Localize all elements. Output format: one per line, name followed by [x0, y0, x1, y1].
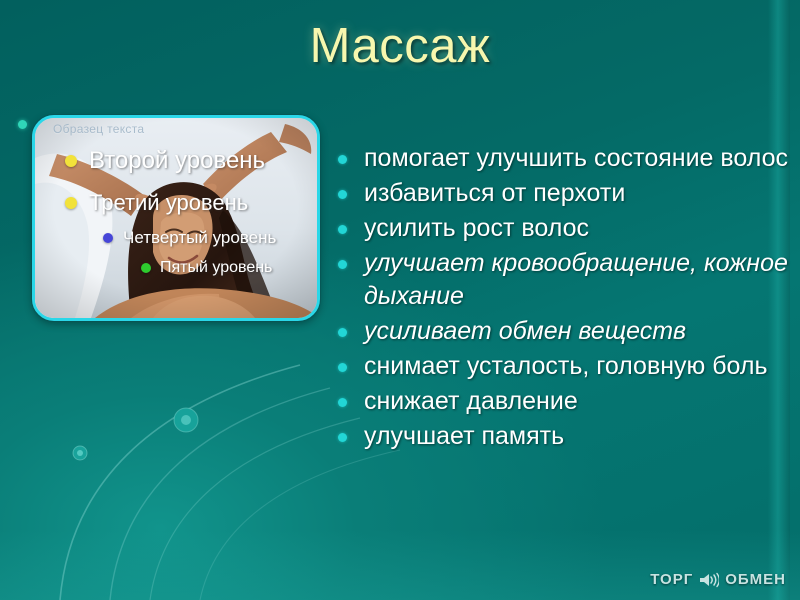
watermark-left-text: ТОРГ [650, 571, 693, 588]
list-item-label: усилить рост волос [364, 212, 589, 245]
placeholder-level-3-label: Третий уровень [89, 188, 248, 218]
placeholder-outline: Второй уровень Третий уровень Четвертый … [35, 144, 317, 279]
list-item-label: усиливает обмен веществ [364, 315, 686, 348]
placeholder-bullet-level-5 [141, 263, 151, 273]
list-item-label: помогает улучшить состояние волос [364, 142, 788, 175]
placeholder-level-4-label: Четвертый уровень [123, 226, 276, 250]
placeholder-bullet-level-2 [65, 155, 77, 167]
list-item-label: снижает давление [364, 385, 578, 418]
speaker-icon [699, 572, 719, 588]
benefits-list: помогает улучшить состояние волос избави… [336, 142, 796, 455]
watermark: ТОРГ ОБМЕН [650, 571, 786, 588]
slide-title: Массаж [0, 18, 800, 74]
placeholder-sample-text: Образец текста [53, 122, 144, 136]
list-item: помогает улучшить состояние волос [336, 142, 796, 175]
list-item: усиливает обмен веществ [336, 315, 796, 348]
list-item: снижает давление [336, 385, 796, 418]
bullet-icon [338, 363, 347, 372]
placeholder-level-5: Пятый уровень [35, 257, 317, 279]
list-item: избавиться от перхоти [336, 177, 796, 210]
bullet-icon [338, 398, 347, 407]
bullet-icon [338, 155, 347, 164]
placeholder-level-3: Третий уровень [35, 188, 317, 218]
content-placeholder-bullet [18, 120, 27, 129]
bullet-icon [338, 433, 347, 442]
picture-frame[interactable]: Образец текста Второй уровень Третий уро… [32, 115, 320, 321]
list-item: улучшает память [336, 420, 796, 453]
placeholder-level-2: Второй уровень [35, 144, 317, 178]
list-item-label: улучшает память [364, 420, 564, 453]
list-item: снимает усталость, головную боль [336, 350, 796, 383]
bullet-icon [338, 225, 347, 234]
watermark-right-text: ОБМЕН [725, 571, 786, 588]
placeholder-level-2-label: Второй уровень [89, 144, 265, 178]
list-item-label: улучшает кровообращение, кожное дыхание [364, 247, 796, 313]
presentation-slide: Массаж [0, 0, 800, 600]
bullet-icon [338, 260, 347, 269]
placeholder-level-5-label: Пятый уровень [160, 257, 272, 279]
list-item-label: снимает усталость, головную боль [364, 350, 768, 383]
bullet-icon [338, 328, 347, 337]
placeholder-level-4: Четвертый уровень [35, 226, 317, 250]
bullet-icon [338, 190, 347, 199]
placeholder-bullet-level-3 [65, 197, 77, 209]
list-item: усилить рост волос [336, 212, 796, 245]
list-item-label: избавиться от перхоти [364, 177, 625, 210]
list-item: улучшает кровообращение, кожное дыхание [336, 247, 796, 313]
placeholder-bullet-level-4 [103, 233, 113, 243]
